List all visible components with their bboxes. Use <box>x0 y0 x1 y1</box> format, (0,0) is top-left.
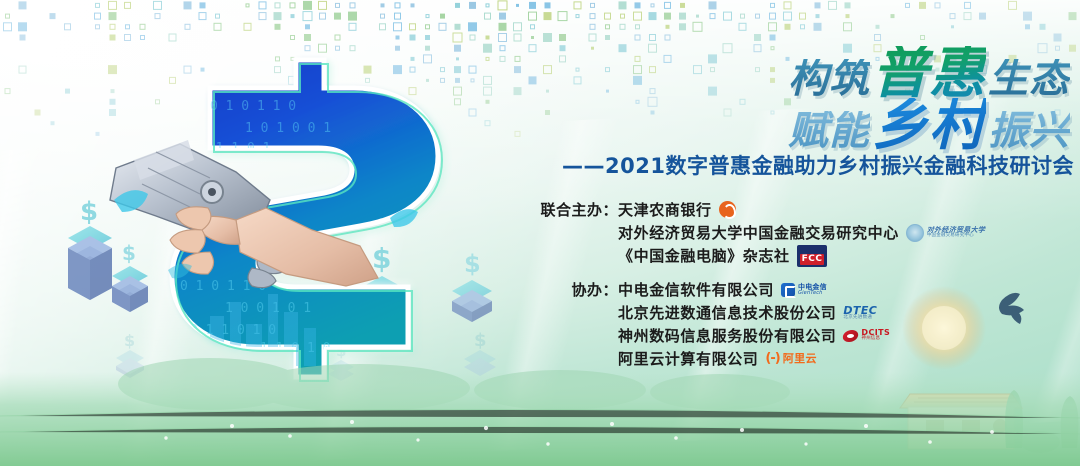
headline-seg-funeng: 赋能 <box>788 111 870 151</box>
uibe-logo-sub: 中国金融交易研究中心 <box>927 234 985 239</box>
cypress-trees <box>1005 390 1078 453</box>
headline-line-2: 赋能乡村振兴 <box>520 98 1070 154</box>
headline-seg-gouzhu: 构筑 <box>788 59 870 99</box>
aliyun-logo: (-) 阿里云 <box>765 352 816 365</box>
svg-text:$: $ <box>372 242 391 275</box>
credits-block: 联合主办： 天津农商银行 对外经济贸易大学中国金融交易研究中心 对外经济贸易大学… <box>530 198 960 381</box>
headline-seg-zhenxing: 振兴 <box>988 111 1070 151</box>
headline-line-1: 构筑普惠生态 <box>520 46 1070 102</box>
headline-seg-shengtai: 生态 <box>988 59 1070 99</box>
swallow-icon <box>999 293 1024 324</box>
host-tianjin-rcb: 天津农商银行 <box>618 199 712 220</box>
event-subtitle: ——2021数字普惠金融助力乡村振兴金融科技研讨会 <box>520 150 1080 180</box>
coorg-gientech: 中电金信软件有限公司 <box>618 279 774 300</box>
svg-text:0 1 0 1 1 0: 0 1 0 1 1 0 <box>180 279 266 294</box>
svg-text:0 1 1 0 1 0: 0 1 1 0 1 0 <box>190 323 276 338</box>
credit-row: 北京先进数通信息技术股份公司 DTEC 北京先进数通 <box>530 301 960 324</box>
credit-row: 神州数码信息服务股份有限公司 DCITS 神州信息 <box>530 324 960 347</box>
host-uibe-center: 对外经济贸易大学中国金融交易研究中心 <box>618 222 899 243</box>
credit-group-hosts: 联合主办： 天津农商银行 对外经济贸易大学中国金融交易研究中心 对外经济贸易大学… <box>530 198 960 267</box>
farmhouse-icon <box>900 394 1022 449</box>
svg-text:1 0 0 1 0 1: 1 0 0 1 0 1 <box>225 301 311 316</box>
svg-text:$: $ <box>80 197 98 227</box>
tjrcb-logo <box>719 201 736 218</box>
headline-seg-xiangcun: 乡村 <box>872 98 986 154</box>
svg-text:$: $ <box>336 342 346 360</box>
gientech-logo: 中电金信 GienTech <box>781 283 827 297</box>
dtec-logo: DTEC 北京先进数通 <box>843 305 877 321</box>
robot-arm <box>110 140 296 288</box>
svg-text:$: $ <box>464 250 481 278</box>
coorg-dcits: 神州数码信息服务股份有限公司 <box>618 325 836 346</box>
svg-text:0 1 0 1 1 0: 0 1 0 1 1 0 <box>210 99 296 114</box>
gientech-mark-icon <box>781 283 795 297</box>
dcits-logo: DCITS 神州信息 <box>843 329 890 342</box>
svg-text:1 0 1 0 0 1: 1 0 1 0 0 1 <box>245 121 331 136</box>
fcc-logo: FCC <box>797 245 828 267</box>
credit-label-hosts: 联合主办： <box>530 199 618 220</box>
dcits-logo-sub: 神州信息 <box>861 337 890 342</box>
credit-row: 对外经济贸易大学中国金融交易研究中心 对外经济贸易大学 中国金融交易研究中心 <box>530 221 960 244</box>
conference-banner: $ $ <box>0 0 1080 466</box>
svg-text:1 0 1 1 0: 1 0 1 1 0 <box>270 161 340 176</box>
credit-row: 联合主办： 天津农商银行 <box>530 198 960 221</box>
aliyun-logo-name: 阿里云 <box>783 353 817 364</box>
hero-dollar-handshake-graphic: $ $ <box>60 40 530 400</box>
credit-group-coorganizers: 协办： 中电金信软件有限公司 中电金信 GienTech 北京先进数通信息技术股… <box>530 278 960 370</box>
dcits-swoosh-icon <box>842 330 860 342</box>
credit-row: 《中国金融电脑》杂志社 FCC <box>530 244 960 267</box>
headline-block: 构筑普惠生态 赋能乡村振兴 <box>520 46 1080 166</box>
credit-label-coorganizers: 协办： <box>530 279 618 300</box>
svg-text:$: $ <box>474 330 487 351</box>
coorg-dtec: 北京先进数通信息技术股份公司 <box>618 302 836 323</box>
human-arm <box>170 207 378 286</box>
aliyun-bracket-icon: (-) <box>765 352 779 365</box>
svg-text:0 1 1 0 1: 0 1 1 0 1 <box>200 141 270 156</box>
uibe-logo: 对外经济贸易大学 中国金融交易研究中心 <box>906 224 985 242</box>
svg-text:$: $ <box>124 331 135 350</box>
svg-text:1 1 0 1 0: 1 1 0 1 0 <box>260 341 330 356</box>
credit-row: 阿里云计算有限公司 (-) 阿里云 <box>530 347 960 370</box>
svg-text:$: $ <box>122 241 136 265</box>
fcc-logo-name: FCC <box>800 254 825 265</box>
host-fcc-magazine: 《中国金融电脑》杂志社 <box>618 245 790 266</box>
uibe-seal-icon <box>906 224 924 242</box>
coorg-aliyun: 阿里云计算有限公司 <box>618 348 758 369</box>
credit-row: 协办： 中电金信软件有限公司 中电金信 GienTech <box>530 278 960 301</box>
coin-stack-group: $ $ <box>68 197 496 381</box>
dtec-logo-sub: 北京先进数通 <box>843 316 872 321</box>
gientech-logo-sub: GienTech <box>798 291 827 296</box>
